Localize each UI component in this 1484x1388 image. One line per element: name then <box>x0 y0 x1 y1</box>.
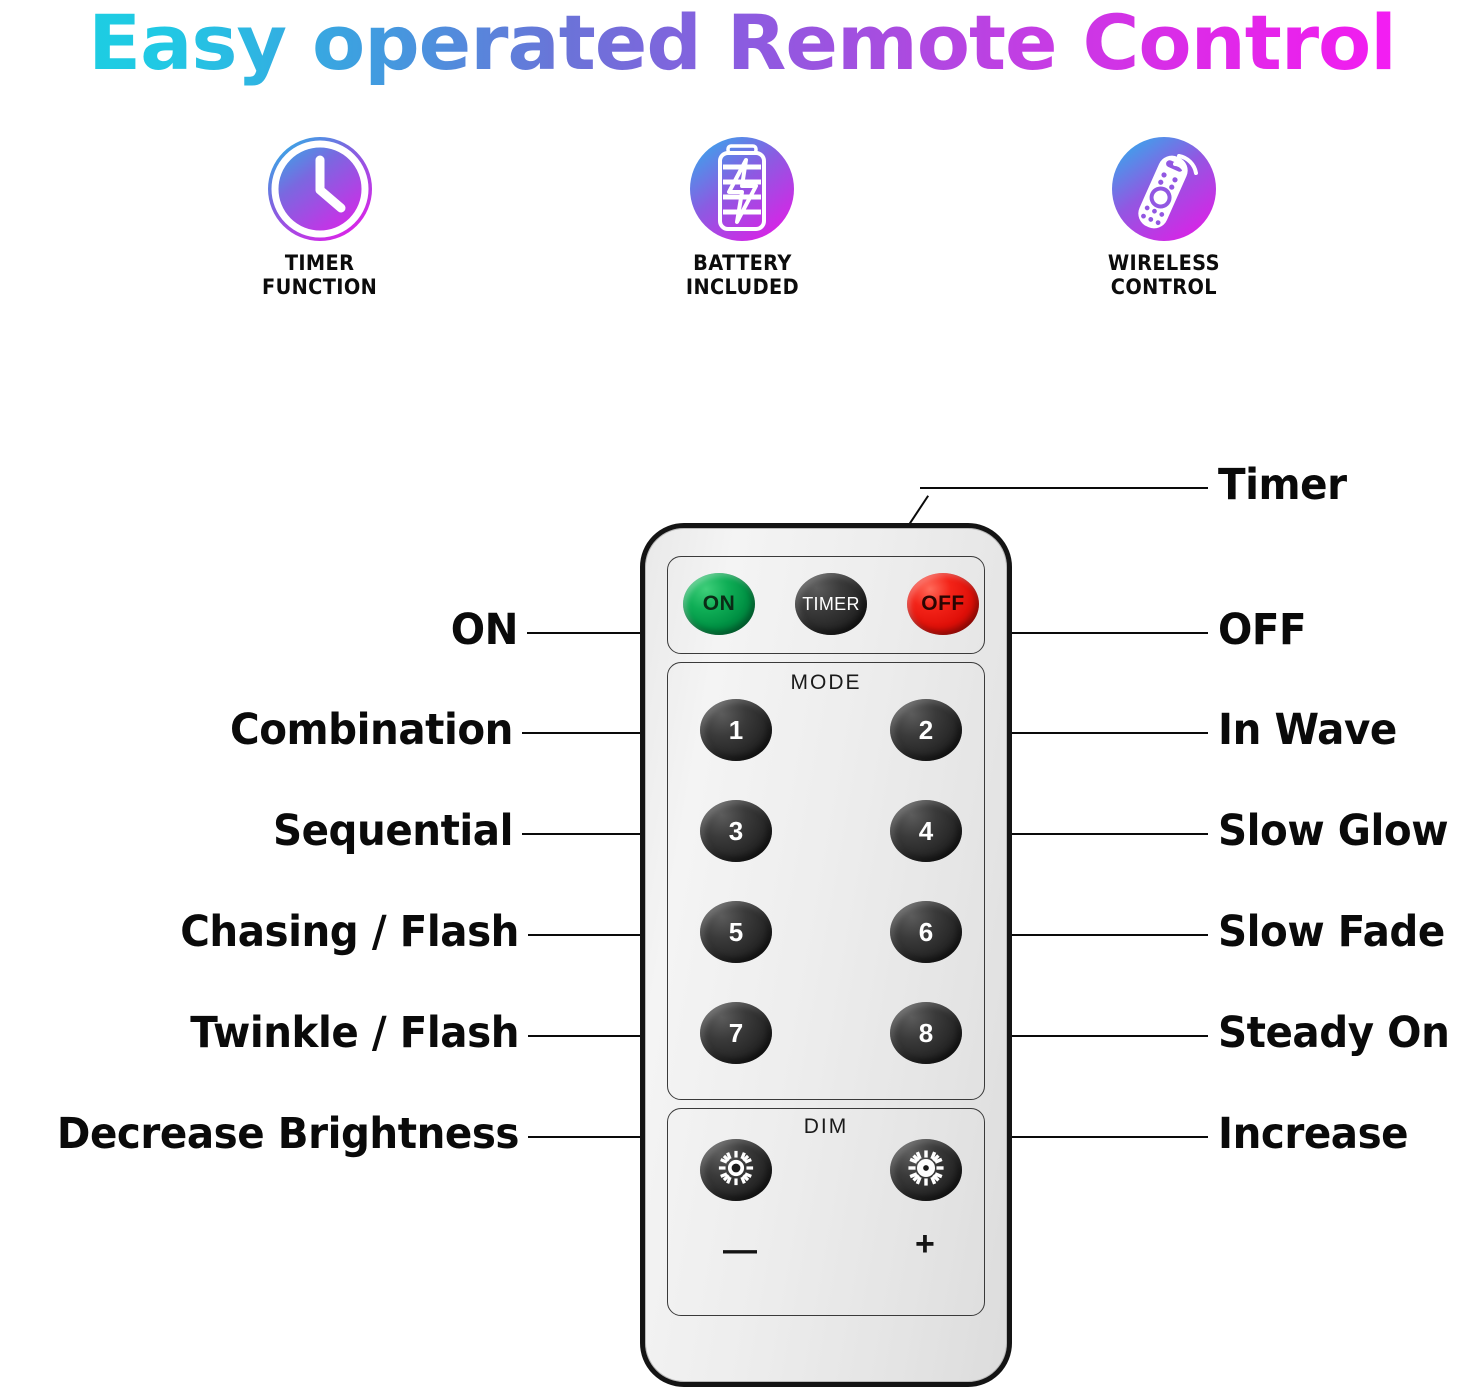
callout-on: ON <box>39 605 518 655</box>
callout-sequential: Sequential <box>38 806 513 856</box>
mode-button-3[interactable]: 3 <box>700 800 772 862</box>
dim-panel: DIM <box>667 1108 985 1316</box>
callout-chasing-flash: Chasing / Flash <box>39 907 519 957</box>
callout-slow-fade: Slow Fade <box>1218 907 1445 957</box>
leader-line-timer <box>920 487 1208 489</box>
feature-wireless-caption: WIRELESS CONTROL <box>1108 252 1220 299</box>
dim-minus-label: — <box>723 1233 757 1267</box>
clock-icon <box>265 134 375 244</box>
callout-timer: Timer <box>1218 460 1347 510</box>
dim-plus-label: + <box>915 1227 935 1261</box>
mode-button-2[interactable]: 2 <box>890 699 962 761</box>
power-panel: ON TIMER OFF <box>667 556 985 654</box>
mode-button-6[interactable]: 6 <box>890 901 962 963</box>
timer-button[interactable]: TIMER <box>795 573 867 635</box>
callout-steady-on: Steady On <box>1218 1008 1449 1058</box>
callout-slow-glow: Slow Glow <box>1218 806 1448 856</box>
remote-control-device: ON TIMER OFF MODE 1 2 3 4 5 6 7 8 DIM <box>640 523 1012 1387</box>
feature-timer: TIMER FUNCTION <box>220 134 420 299</box>
dim-increase-button[interactable] <box>890 1139 962 1201</box>
mode-button-4[interactable]: 4 <box>890 800 962 862</box>
callout-twinkle-flash: Twinkle / Flash <box>39 1008 519 1058</box>
feature-battery: BATTERY INCLUDED <box>642 134 842 299</box>
mode-button-7[interactable]: 7 <box>700 1002 772 1064</box>
mode-panel-title: MODE <box>668 671 984 695</box>
off-button[interactable]: OFF <box>907 573 979 635</box>
callout-decrease-brightness: Decrease Brightness <box>31 1109 519 1159</box>
feature-wireless: WIRELESS CONTROL <box>1064 134 1264 299</box>
mode-button-1[interactable]: 1 <box>700 699 772 761</box>
battery-icon <box>687 134 797 244</box>
on-button[interactable]: ON <box>683 573 755 635</box>
callout-off: OFF <box>1218 605 1306 655</box>
feature-badges: TIMER FUNCTION <box>0 134 1484 299</box>
callout-combination: Combination <box>38 705 513 755</box>
feature-battery-caption: BATTERY INCLUDED <box>685 252 798 299</box>
brightness-low-icon <box>717 1149 755 1192</box>
page-title: Easy operated Remote Control <box>0 0 1484 87</box>
callout-in-wave: In Wave <box>1218 705 1397 755</box>
dim-decrease-button[interactable] <box>700 1139 772 1201</box>
callout-increase: Increase <box>1218 1109 1408 1159</box>
mode-panel: MODE 1 2 3 4 5 6 7 8 <box>667 662 985 1100</box>
brightness-high-icon <box>907 1149 945 1192</box>
dim-panel-title: DIM <box>668 1115 984 1139</box>
mode-button-5[interactable]: 5 <box>700 901 772 963</box>
feature-timer-caption: TIMER FUNCTION <box>262 252 377 299</box>
mode-button-8[interactable]: 8 <box>890 1002 962 1064</box>
remote-signal-icon <box>1109 134 1219 244</box>
